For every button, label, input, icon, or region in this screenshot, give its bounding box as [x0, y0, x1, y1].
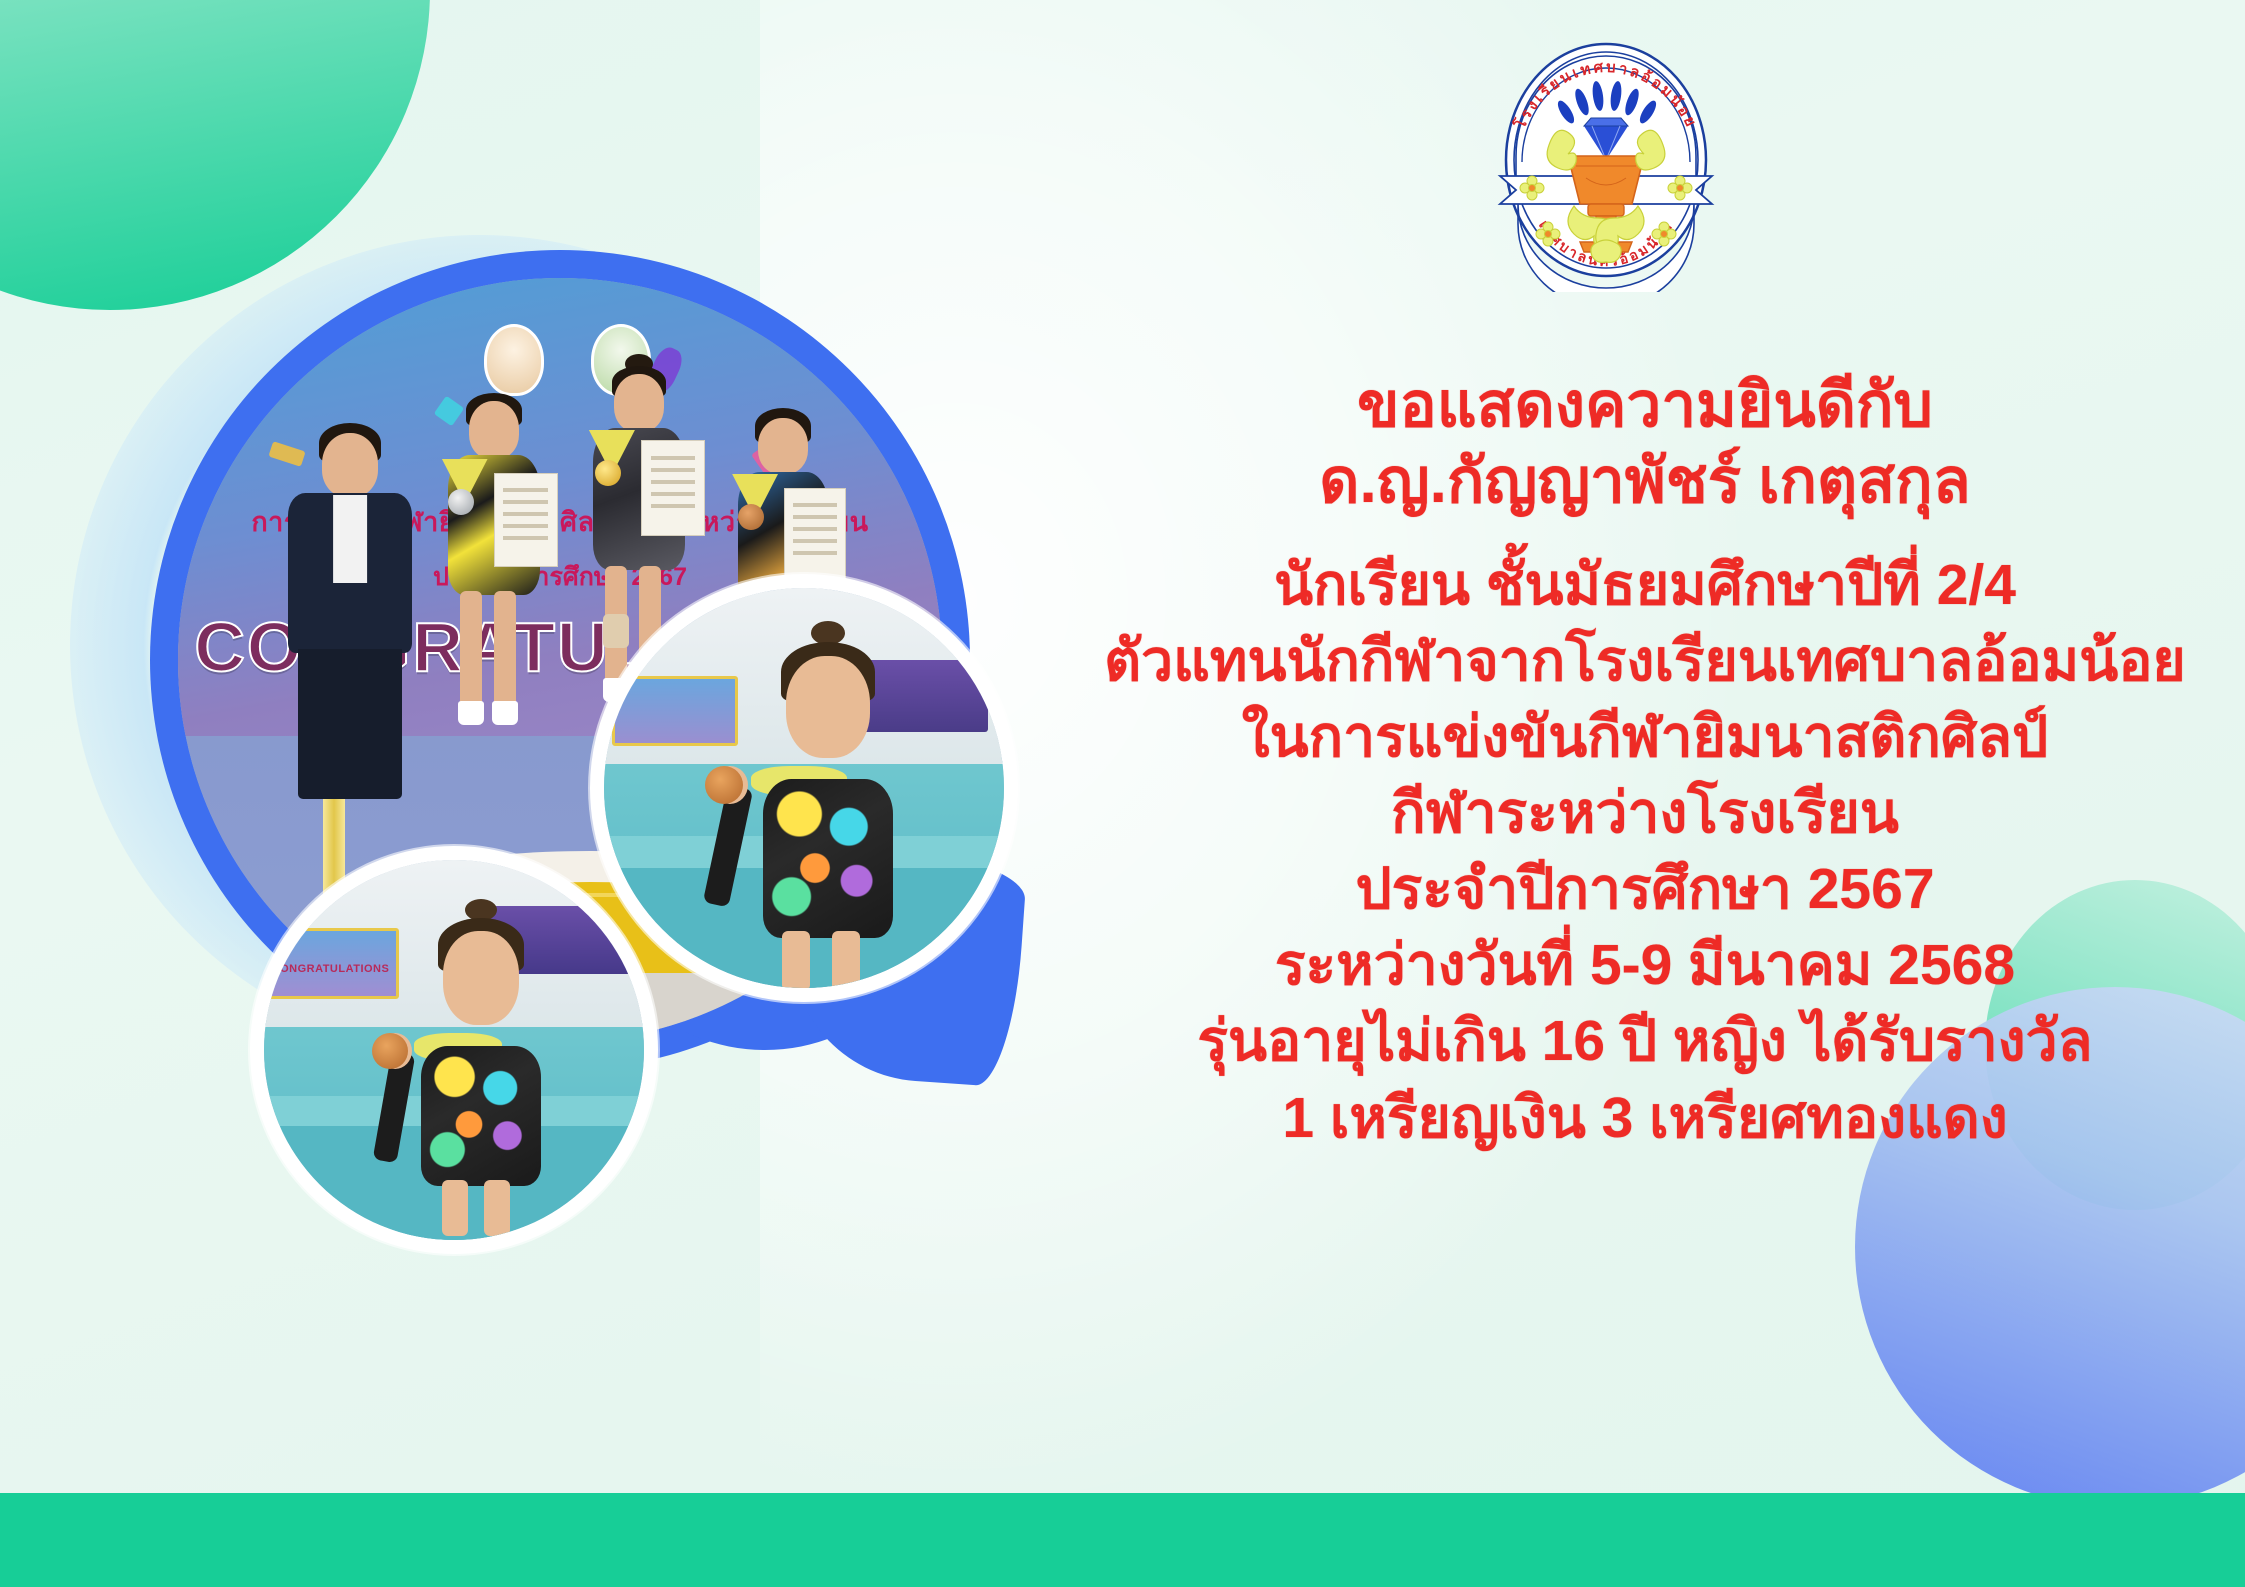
body-text: นักเรียน ชั้นมัธยมศึกษาปีที่ 2/4 ตัวแทนน… [1075, 552, 2215, 1151]
body-line-8: 1 เหรียญเงิน 3 เหรียศทองแดง [1075, 1085, 2215, 1151]
bottom-accent-bar [0, 1493, 2245, 1587]
certificate [641, 440, 705, 536]
body-line-2: ตัวแทนนักกีฬาจากโรงเรียนเทศบาลอ้อมน้อย [1075, 628, 2215, 694]
portrait-scene-right [604, 588, 1004, 988]
gold-medal [595, 460, 621, 486]
gymnast-figure-1 [438, 393, 550, 897]
banner-congratulations-text: CONGRATULATIONS [268, 963, 393, 975]
leotard [763, 779, 893, 937]
body-line-5: ประจำปีการศึกษา 2567 [1075, 856, 2215, 922]
organization-seal-left [484, 324, 544, 396]
headline-line-2: ด.ญ.กัญญาพัชร์ เกตุสกุล [1075, 446, 2215, 518]
athlete-portrait-gym-floor: CONGRATULATIONS [250, 846, 658, 1254]
background-banner-left [612, 676, 738, 746]
congratulation-text-block: ขอแสดงความยินดีกับ ด.ญ.กัญญาพัชร์ เกตุสก… [1075, 370, 2215, 1161]
bronze-medal [738, 504, 764, 530]
athlete-portrait-with-medal [590, 574, 1018, 1002]
certificate [784, 488, 846, 580]
portrait-scene-left: CONGRATULATIONS [264, 860, 644, 1240]
coach-figure [285, 423, 415, 897]
body-line-6: ระหว่างวันที่ 5-9 มีนาคม 2568 [1075, 932, 2215, 998]
athlete-figure [740, 628, 916, 972]
certificate [494, 473, 558, 567]
silver-medal [448, 489, 474, 515]
bronze-medal [705, 766, 743, 804]
photo-collage: การแข่งขันกีฬายิมนาสติกศิลป์ กีฬาระหว่าง… [150, 250, 1160, 1230]
headline: ขอแสดงความยินดีกับ ด.ญ.กัญญาพัชร์ เกตุสก… [1075, 370, 2215, 518]
body-line-4: กีฬาระหว่างโรงเรียน [1075, 780, 2215, 846]
athlete-figure [401, 906, 561, 1225]
school-emblem: โรงเรียนเทศบาลอ้อมน้อย เทศบาลนครอ้อมน้อย [1470, 28, 1742, 292]
body-line-7: รุ่นอายุไม่เกิน 16 ปี หญิง ได้รับรางวัล [1075, 1008, 2215, 1074]
headline-line-1: ขอแสดงความยินดีกับ [1075, 370, 2215, 442]
body-line-3: ในการแข่งขันกีฬายิมนาสติกศิลป์ [1075, 704, 2215, 770]
leotard [421, 1046, 541, 1186]
body-line-1: นักเรียน ชั้นมัธยมศึกษาปีที่ 2/4 [1075, 552, 2215, 618]
